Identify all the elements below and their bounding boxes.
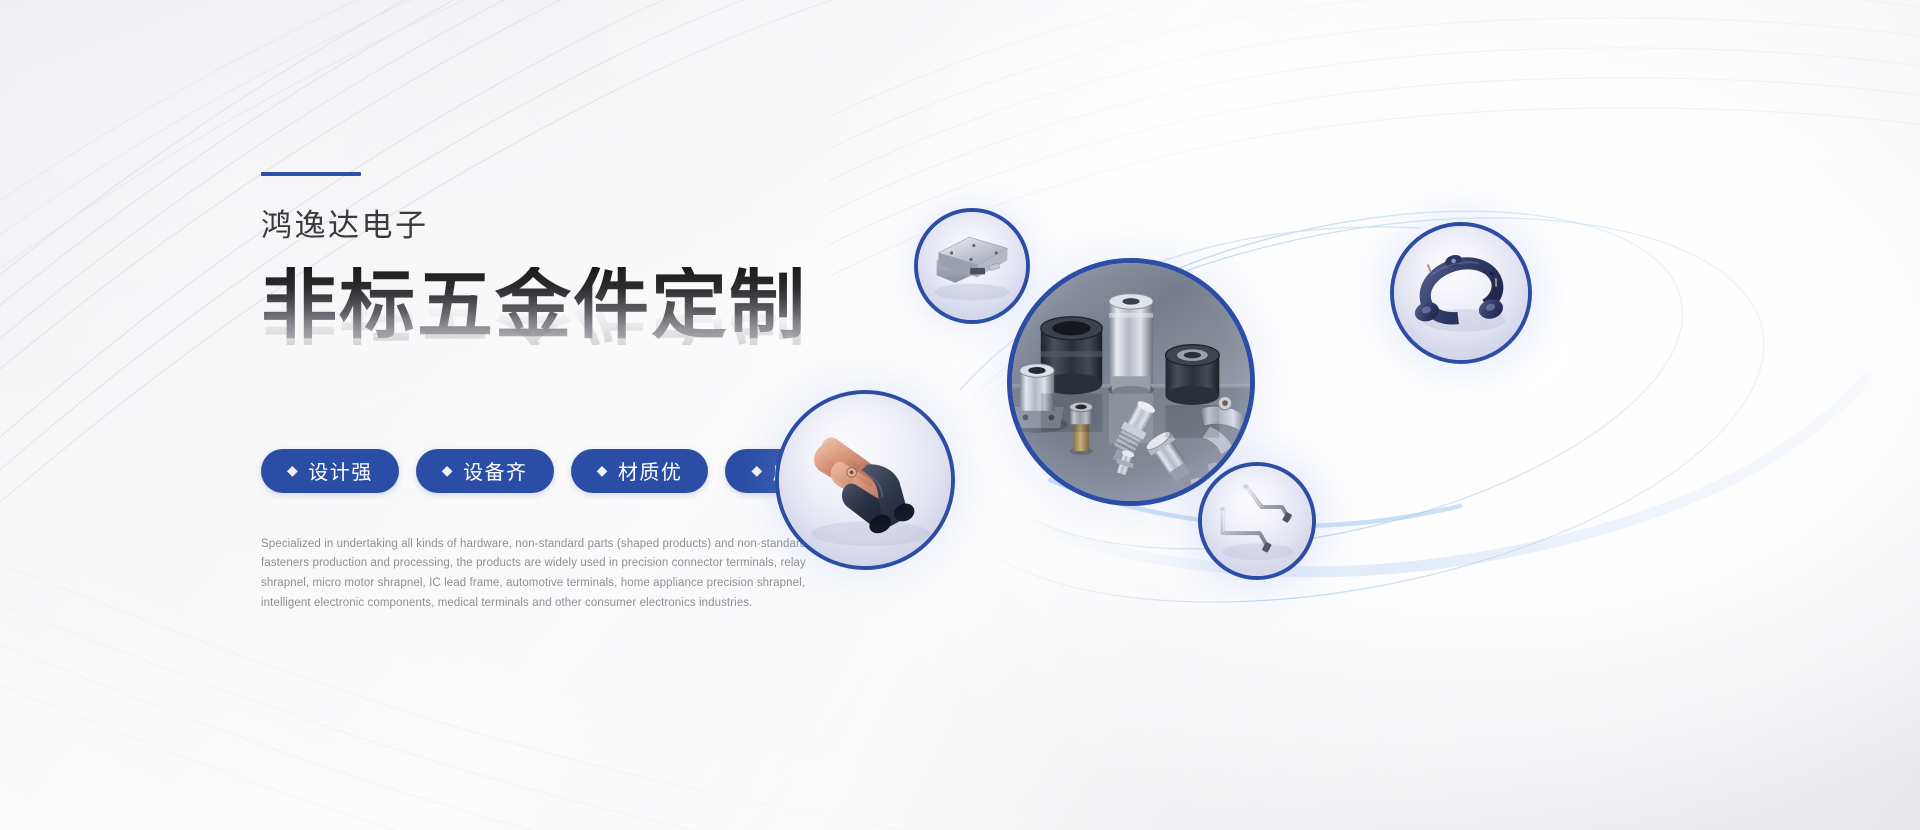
battery-clamp-icon <box>779 394 951 566</box>
hero-banner: 鸿逸达电子 非标五金件定制 非标五金件定制 ◆ 设计强 ◆ 设备齐 ◆ 材质优 … <box>0 0 1920 830</box>
feature-pill-equipment[interactable]: ◆ 设备齐 <box>416 449 554 493</box>
diamond-icon: ◆ <box>442 463 454 477</box>
feature-pill-label: 设计强 <box>308 456 373 485</box>
brand-name: 鸿逸达电子 <box>261 209 961 243</box>
product-bubble-bent-wire-hex-keys[interactable] <box>1198 462 1316 580</box>
metal-enclosure-box-icon <box>918 212 1026 320</box>
feature-pill-design[interactable]: ◆ 设计强 <box>261 449 399 493</box>
feature-pill-material[interactable]: ◆ 材质优 <box>571 449 709 493</box>
feature-pill-label: 设备齐 <box>463 456 528 485</box>
bent-wire-hex-keys-icon <box>1202 466 1312 576</box>
diamond-icon: ◆ <box>287 463 299 477</box>
accent-rule <box>261 172 361 176</box>
headline-reflection: 非标五金件定制 <box>261 267 807 345</box>
product-collage <box>900 110 1920 670</box>
diamond-icon: ◆ <box>597 463 609 477</box>
diamond-icon: ◆ <box>751 463 763 477</box>
product-bubble-retaining-clip-ring[interactable] <box>1390 222 1532 364</box>
retaining-clip-ring-icon <box>1394 226 1528 360</box>
company-description: Specialized in undertaking all kinds of … <box>261 535 823 614</box>
product-bubble-battery-clamp[interactable] <box>775 390 955 570</box>
headline-block: 非标五金件定制 非标五金件定制 <box>261 267 961 345</box>
feature-pill-label: 材质优 <box>618 456 683 485</box>
